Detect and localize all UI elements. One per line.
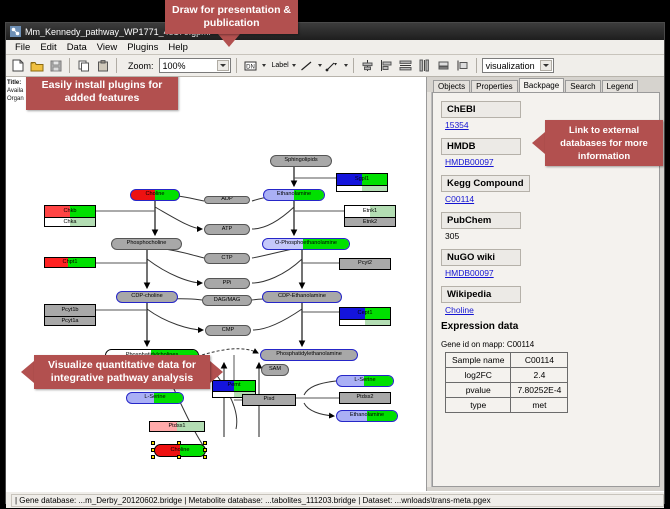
gene-box-ptdss1[interactable]: Ptdss1 bbox=[149, 421, 205, 432]
db-header-chebi: ChEBI bbox=[441, 101, 521, 118]
gene-box-etnk[interactable]: Etnk1 Etnk2 bbox=[344, 205, 396, 227]
gene-label-chka: Chka bbox=[63, 220, 76, 226]
stack-icon[interactable] bbox=[435, 57, 452, 74]
expr-key: log2FC bbox=[446, 368, 511, 383]
node-label: Ethanolamine bbox=[277, 192, 311, 198]
canvas-organism-label: Organ bbox=[7, 96, 24, 102]
draw-callout: Draw for presentation & publication bbox=[165, 0, 298, 34]
zoom-combo[interactable]: 100% bbox=[159, 58, 231, 73]
link-callout-text: Link to external databases for more info… bbox=[551, 124, 657, 163]
link-callout: Link to external databases for more info… bbox=[545, 120, 663, 166]
node-o-phosphoethanolamine[interactable]: O-Phosphoethanolamine bbox=[262, 238, 350, 250]
draw-callout-arrow-icon bbox=[218, 34, 240, 47]
node-l-serine-right[interactable]: L-Serine bbox=[336, 375, 394, 387]
node-atp[interactable]: ATP bbox=[204, 224, 250, 235]
tab-search[interactable]: Search bbox=[565, 80, 600, 92]
gene-box-chk[interactable]: Chkb Chka bbox=[44, 205, 96, 227]
menu-data[interactable]: Data bbox=[62, 42, 92, 53]
node-label: CTP bbox=[221, 256, 232, 262]
title-bar: Mm_Kennedy_pathway_WP1771_45176.gpml bbox=[6, 23, 664, 40]
node-l-serine-left[interactable]: L-Serine bbox=[126, 392, 184, 404]
menu-plugins[interactable]: Plugins bbox=[122, 42, 163, 53]
menu-bar: File Edit Data View Plugins Help bbox=[6, 40, 664, 55]
tab-properties[interactable]: Properties bbox=[471, 80, 517, 92]
expression-table: Sample name C00114 log2FC 2.4 pvalue 7.8… bbox=[445, 352, 568, 413]
label-chevron-icon[interactable] bbox=[292, 64, 296, 67]
gene-box-sgpl1[interactable]: Sgpl1 bbox=[336, 173, 388, 192]
expr-key: pvalue bbox=[446, 383, 511, 398]
node-label: Sphingolipids bbox=[284, 158, 317, 164]
toolbar: Zoom: 100% DN Label bbox=[6, 55, 664, 77]
gene-label-chpt1: Chpt1 bbox=[63, 260, 78, 266]
expr-value: 2.4 bbox=[511, 368, 568, 383]
line-chevron-icon[interactable] bbox=[318, 64, 322, 67]
db-header-nugo: NuGO wiki bbox=[441, 249, 521, 266]
selection-handle-w[interactable] bbox=[151, 448, 155, 452]
tab-objects[interactable]: Objects bbox=[433, 80, 470, 92]
visualize-callout-arrow-left-icon bbox=[21, 361, 34, 383]
paste-icon[interactable] bbox=[94, 57, 111, 74]
node-label: Ethanolamine bbox=[350, 413, 384, 419]
toolbar-separator-5 bbox=[476, 58, 477, 73]
expr-value: 7.80252E-4 bbox=[511, 383, 568, 398]
db-block-kegg: Kegg Compound C00114 bbox=[441, 173, 651, 204]
datanode-icon[interactable]: DN bbox=[242, 57, 259, 74]
gene-id-label: Gene id on mapp: C00114 bbox=[441, 340, 651, 349]
pathway-canvas[interactable]: Title: Availa Organ bbox=[6, 77, 427, 491]
db-block-pubchem: PubChem 305 bbox=[441, 210, 651, 241]
zoom-value: 100% bbox=[163, 61, 186, 71]
status-text: | Gene database: ...m_Derby_20120602.bri… bbox=[11, 494, 664, 507]
node-label: SAM bbox=[269, 367, 281, 373]
node-dag-mag[interactable]: DAG/MAG bbox=[202, 295, 252, 306]
selection-handle-n[interactable] bbox=[177, 441, 181, 445]
gene-label-etnk1: Etnk1 bbox=[363, 209, 377, 215]
node-cdp-ethanolamine[interactable]: CDP-Ethanolamine bbox=[262, 291, 342, 303]
application-window: Mm_Kennedy_pathway_WP1771_45176.gpml Fil… bbox=[5, 22, 665, 504]
gene-label-cept1: Cept1 bbox=[358, 311, 373, 317]
toolbar-separator bbox=[69, 58, 70, 73]
db-header-wikipedia: Wikipedia bbox=[441, 286, 521, 303]
selection-handle-e[interactable] bbox=[203, 448, 207, 452]
canvas-available-label: Availa bbox=[7, 88, 23, 94]
node-label: CDP-choline bbox=[131, 294, 162, 300]
interaction-chevron-icon[interactable] bbox=[344, 64, 348, 67]
gene-label-pcyt2: Pcyt2 bbox=[358, 261, 372, 267]
panel-tabs: Objects Properties Backpage Search Legen… bbox=[427, 77, 664, 92]
label-tool-label[interactable]: Label bbox=[272, 62, 289, 69]
node-adp[interactable]: ADP bbox=[204, 196, 250, 204]
gene-label-pemt: Pemt bbox=[227, 383, 240, 389]
menu-view[interactable]: View bbox=[92, 42, 122, 53]
selection-handle-nw[interactable] bbox=[151, 441, 155, 445]
node-label: Phosphatidylethanolamine bbox=[276, 352, 342, 358]
node-phosphocholine[interactable]: Phosphocholine bbox=[111, 238, 182, 250]
gene-label-pcyt1a: Pcyt1a bbox=[61, 319, 78, 325]
node-label: ATP bbox=[222, 227, 232, 233]
expr-key: Sample name bbox=[446, 353, 511, 368]
tab-backpage[interactable]: Backpage bbox=[519, 78, 565, 92]
gene-label-sgpl1: Sgpl1 bbox=[355, 177, 369, 183]
node-label: DAG/MAG bbox=[214, 298, 240, 304]
node-sphingolipids[interactable]: Sphingolipids bbox=[270, 155, 332, 167]
gene-box-pcyt2[interactable]: Pcyt2 bbox=[339, 258, 391, 270]
selection-handle-s[interactable] bbox=[177, 455, 181, 459]
visualization-value: visualization bbox=[486, 61, 535, 71]
expr-value: met bbox=[511, 398, 568, 413]
table-row: Sample name C00114 bbox=[446, 353, 568, 368]
gene-row-blank-cept1 bbox=[340, 319, 390, 326]
db-link-kegg[interactable]: C00114 bbox=[445, 194, 651, 204]
db-header-hmdb: HMDB bbox=[441, 138, 521, 155]
gene-label-ptdss2: Ptdss2 bbox=[356, 395, 373, 401]
toolbar-separator-4 bbox=[353, 58, 354, 73]
gene-label-ptdss1: Ptdss1 bbox=[168, 424, 185, 430]
node-ethanolamine-top[interactable]: Ethanolamine bbox=[263, 189, 325, 201]
canvas-side-info: Title: Availa Organ bbox=[7, 79, 25, 103]
node-label: PPi bbox=[223, 281, 232, 287]
node-label: CDP-Ethanolamine bbox=[278, 294, 326, 300]
menu-file[interactable]: File bbox=[10, 42, 35, 53]
zoom-label: Zoom: bbox=[128, 61, 154, 71]
gene-box-ptdss2[interactable]: Ptdss2 bbox=[339, 392, 391, 404]
gene-box-cept1[interactable]: Cept1 bbox=[339, 307, 391, 326]
canvas-title-label: Title: bbox=[7, 80, 21, 86]
visualization-combo[interactable]: visualization bbox=[482, 58, 554, 73]
node-ctp[interactable]: CTP bbox=[204, 253, 250, 264]
gene-label-etnk2: Etnk2 bbox=[363, 220, 377, 226]
status-bar: | Gene database: ...m_Derby_20120602.bri… bbox=[6, 491, 664, 508]
link-callout-arrow-icon bbox=[532, 132, 545, 154]
copy-icon[interactable] bbox=[75, 57, 92, 74]
node-label: L-Serine bbox=[144, 395, 165, 401]
visualize-callout: Visualize quantitative data for integrat… bbox=[34, 355, 210, 389]
gene-box-pcyt1[interactable]: Pcyt1b Pcyt1a bbox=[44, 304, 96, 326]
expr-value: C00114 bbox=[511, 353, 568, 368]
db-value-pubchem: 305 bbox=[445, 231, 651, 241]
menu-edit[interactable]: Edit bbox=[35, 42, 61, 53]
node-phosphatidylethanolamine[interactable]: Phosphatidylethanolamine bbox=[260, 349, 358, 361]
visualize-callout-arrow-right-icon bbox=[210, 361, 223, 383]
align-left-icon[interactable] bbox=[378, 57, 395, 74]
pathvisio-icon bbox=[10, 26, 21, 37]
save-icon[interactable] bbox=[47, 57, 64, 74]
node-label: ADP bbox=[221, 197, 233, 203]
datanode-chevron-icon[interactable] bbox=[262, 64, 266, 67]
selection-handle-ne[interactable] bbox=[203, 441, 207, 445]
node-label: L-Serine bbox=[354, 378, 375, 384]
menu-help[interactable]: Help bbox=[163, 42, 193, 53]
gene-box-pisd[interactable]: Pisd bbox=[242, 394, 296, 406]
node-ppi[interactable]: PPi bbox=[204, 278, 250, 289]
bring-front-icon[interactable] bbox=[454, 57, 471, 74]
db-link-nugo[interactable]: HMDB00097 bbox=[445, 268, 651, 278]
node-label: CMP bbox=[222, 328, 234, 334]
db-header-kegg: Kegg Compound bbox=[441, 175, 530, 192]
db-block-nugo: NuGO wiki HMDB00097 bbox=[441, 247, 651, 278]
chevron-down-icon[interactable] bbox=[217, 60, 229, 71]
gene-row-blank-sgpl1 bbox=[337, 185, 387, 192]
table-row: pvalue 7.80252E-4 bbox=[446, 383, 568, 398]
distribute-horizontal-icon[interactable] bbox=[416, 57, 433, 74]
node-ethanolamine-bottom[interactable]: Ethanolamine bbox=[336, 410, 398, 422]
expr-key: type bbox=[446, 398, 511, 413]
gene-label-chkb: Chkb bbox=[63, 209, 76, 215]
gene-label-pisd: Pisd bbox=[264, 397, 275, 403]
node-label: Choline bbox=[171, 448, 190, 454]
align-center-icon[interactable] bbox=[359, 57, 376, 74]
new-icon[interactable] bbox=[9, 57, 26, 74]
db-link-wikipedia[interactable]: Choline bbox=[445, 305, 651, 315]
gene-label-pcyt1b: Pcyt1b bbox=[61, 308, 78, 314]
node-cdp-choline[interactable]: CDP-choline bbox=[116, 291, 178, 303]
svg-text:DN: DN bbox=[246, 64, 255, 70]
toolbar-separator-3 bbox=[236, 58, 237, 73]
table-row: log2FC 2.4 bbox=[446, 368, 568, 383]
toolbar-separator-2 bbox=[116, 58, 117, 73]
node-label: Choline bbox=[146, 192, 165, 198]
draw-callout-text: Draw for presentation & publication bbox=[171, 4, 292, 30]
interaction-tool-icon[interactable] bbox=[324, 57, 341, 74]
distribute-vertical-icon[interactable] bbox=[397, 57, 414, 74]
node-label: Phosphocholine bbox=[127, 241, 167, 247]
db-block-wikipedia: Wikipedia Choline bbox=[441, 284, 651, 315]
gene-box-chpt1[interactable]: Chpt1 bbox=[44, 257, 96, 268]
db-header-pubchem: PubChem bbox=[441, 212, 521, 229]
tab-legend[interactable]: Legend bbox=[602, 80, 639, 92]
visualization-chevron-icon[interactable] bbox=[540, 60, 552, 71]
selection-handle-se[interactable] bbox=[203, 455, 207, 459]
node-sam[interactable]: SAM bbox=[261, 364, 289, 376]
plugins-callout-text: Easily install plugins for added feature… bbox=[32, 79, 172, 105]
visualize-callout-text: Visualize quantitative data for integrat… bbox=[40, 359, 204, 385]
plugins-callout: Easily install plugins for added feature… bbox=[26, 77, 178, 110]
node-cmp[interactable]: CMP bbox=[205, 325, 251, 336]
expression-data-heading: Expression data bbox=[441, 321, 651, 332]
node-choline-top[interactable]: Choline bbox=[130, 189, 180, 201]
line-tool-icon[interactable] bbox=[298, 57, 315, 74]
node-label: O-Phosphoethanolamine bbox=[275, 241, 337, 247]
open-folder-icon[interactable] bbox=[28, 57, 45, 74]
table-row: type met bbox=[446, 398, 568, 413]
selection-handle-sw[interactable] bbox=[151, 455, 155, 459]
